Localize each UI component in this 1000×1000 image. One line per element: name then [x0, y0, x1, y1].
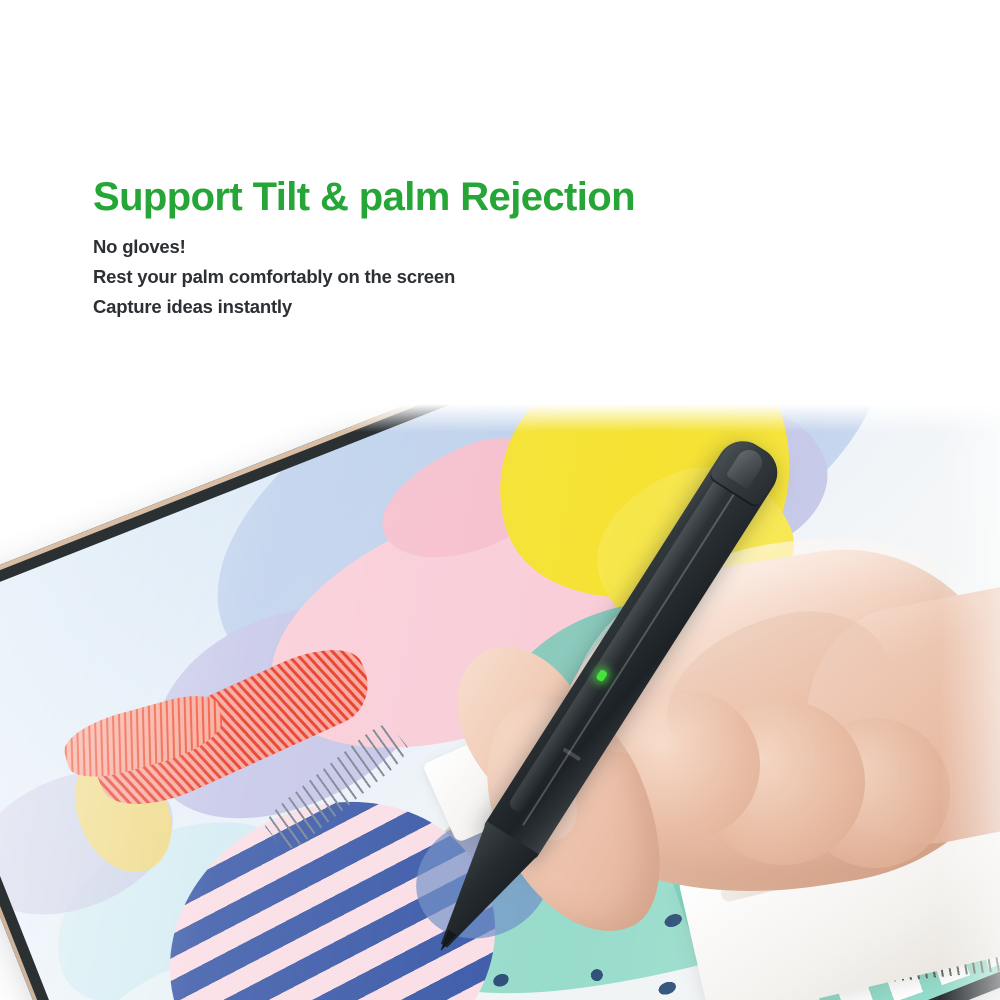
headline: Support Tilt & palm Rejection [93, 176, 793, 218]
marketing-copy: Support Tilt & palm Rejection No gloves!… [93, 176, 793, 322]
bullet-line-3: Capture ideas instantly [93, 292, 793, 322]
product-photo [0, 0, 1000, 1000]
product-feature-banner: Support Tilt & palm Rejection No gloves!… [0, 0, 1000, 1000]
bullet-line-1: No gloves! [93, 232, 793, 262]
bullet-line-2: Rest your palm comfortably on the screen [93, 262, 793, 292]
